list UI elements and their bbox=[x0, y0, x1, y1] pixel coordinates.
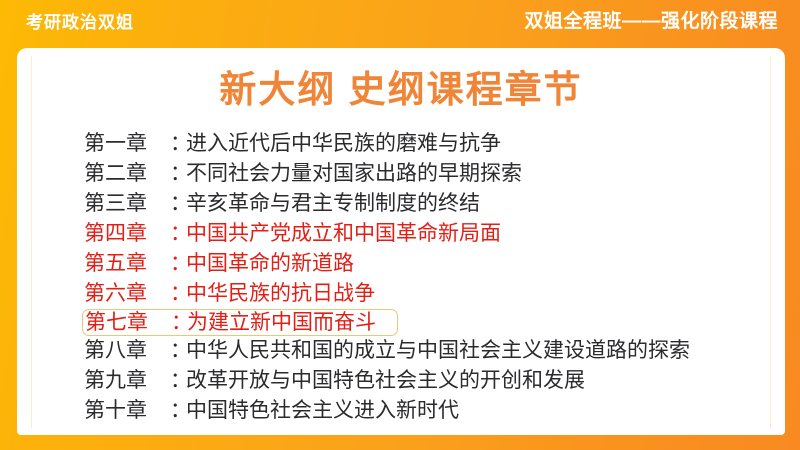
chapter-title-text: 中国革命的新道路 bbox=[186, 249, 354, 279]
chapter-title-text: 不同社会力量对国家出路的早期探索 bbox=[186, 159, 522, 189]
chapter-colon: ： bbox=[171, 309, 187, 336]
content-card: 新大纲 史纲课程章节 第一章：进入近代后中华民族的磨难与抗争第二章：不同社会力量… bbox=[17, 48, 785, 435]
chapter-row: 第三章：辛亥革命与君主专制制度的终结 bbox=[80, 189, 770, 219]
course-title-label: 双姐全程班——强化阶段课程 bbox=[524, 10, 778, 34]
chapter-row: 第八章：中华人民共和国的成立与中国社会主义建设道路的探索 bbox=[80, 336, 770, 366]
chapter-number-label: 第九章 bbox=[84, 366, 170, 396]
header-bar: 考研政治双姐 双姐全程班——强化阶段课程 bbox=[0, 0, 800, 48]
chapter-title-text: 辛亥革命与君主专制制度的终结 bbox=[186, 189, 480, 219]
chapter-list: 第一章：进入近代后中华民族的磨难与抗争第二章：不同社会力量对国家出路的早期探索第… bbox=[80, 129, 770, 426]
chapter-number-label: 第六章 bbox=[84, 279, 170, 309]
chapter-colon: ： bbox=[170, 279, 186, 309]
page-title: 新大纲 史纲课程章节 bbox=[17, 66, 785, 114]
chapter-colon: ： bbox=[170, 366, 186, 396]
chapter-row: 第十章：中国特色社会主义进入新时代 bbox=[80, 396, 770, 426]
chapter-row: 第五章：中国革命的新道路 bbox=[80, 249, 770, 279]
chapter-title-text: 进入近代后中华民族的磨难与抗争 bbox=[186, 129, 501, 159]
chapter-number-label: 第五章 bbox=[84, 249, 170, 279]
chapter-row: 第九章：改革开放与中国特色社会主义的开创和发展 bbox=[80, 366, 770, 396]
chapter-row: 第二章：不同社会力量对国家出路的早期探索 bbox=[80, 159, 770, 189]
chapter-number-label: 第七章 bbox=[85, 309, 171, 336]
chapter-number-label: 第三章 bbox=[84, 189, 170, 219]
chapter-row: 第六章：中华民族的抗日战争 bbox=[80, 279, 770, 309]
chapter-colon: ： bbox=[170, 129, 186, 159]
chapter-title-text: 为建立新中国而奋斗 bbox=[187, 309, 376, 336]
chapter-number-label: 第一章 bbox=[84, 129, 170, 159]
chapter-row: 第七章：为建立新中国而奋斗 bbox=[82, 309, 398, 336]
chapter-title-text: 中华人民共和国的成立与中国社会主义建设道路的探索 bbox=[186, 336, 690, 366]
chapter-title-text: 中国特色社会主义进入新时代 bbox=[186, 396, 459, 426]
chapter-row: 第四章：中国共产党成立和中国革命新局面 bbox=[80, 219, 770, 249]
chapter-number-label: 第十章 bbox=[84, 396, 170, 426]
chapter-colon: ： bbox=[170, 249, 186, 279]
chapter-number-label: 第二章 bbox=[84, 159, 170, 189]
chapter-colon: ： bbox=[170, 189, 186, 219]
chapter-number-label: 第四章 bbox=[84, 219, 170, 249]
brand-label: 考研政治双姐 bbox=[26, 13, 134, 33]
chapter-title-text: 中华民族的抗日战争 bbox=[186, 279, 375, 309]
chapter-colon: ： bbox=[170, 336, 186, 366]
chapter-colon: ： bbox=[170, 159, 186, 189]
chapter-colon: ： bbox=[170, 219, 186, 249]
slide-root: 考研政治双姐 双姐全程班——强化阶段课程 新大纲 史纲课程章节 第一章：进入近代… bbox=[0, 0, 800, 450]
chapter-title-text: 改革开放与中国特色社会主义的开创和发展 bbox=[186, 366, 585, 396]
chapter-row: 第一章：进入近代后中华民族的磨难与抗争 bbox=[80, 129, 770, 159]
chapter-title-text: 中国共产党成立和中国革命新局面 bbox=[186, 219, 501, 249]
chapter-number-label: 第八章 bbox=[84, 336, 170, 366]
chapter-colon: ： bbox=[170, 396, 186, 426]
